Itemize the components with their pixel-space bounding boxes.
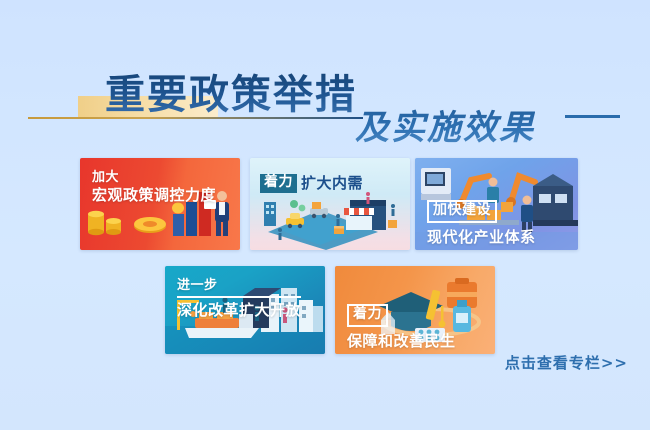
card-2-line2: 扩大内需: [301, 174, 363, 193]
card-3-line1-wrap: 加快建设: [427, 200, 536, 223]
card-4-line1: 进一步: [177, 278, 301, 294]
policy-card-industrial-system[interactable]: 加快建设 现代化产业体系: [415, 158, 578, 250]
banner-title-block: 重要政策举措 及实施效果: [0, 58, 650, 150]
card-2-line1: 着力: [260, 174, 297, 193]
card-5-line1: 着力: [347, 304, 388, 327]
card-1-line1: 加大: [92, 170, 216, 186]
policy-banner: 重要政策举措 及实施效果: [0, 0, 650, 430]
policy-card-macro-control[interactable]: 加大 宏观政策调控力度: [80, 158, 240, 250]
card-4-divider: [177, 296, 301, 298]
card-1-labels: 加大 宏观政策调控力度: [92, 170, 216, 205]
card-4-labels: 进一步 深化改革扩大开放: [177, 278, 301, 320]
card-5-labels: 着力 保障和改善民生: [347, 304, 456, 350]
card-3-line1: 加快建设: [427, 200, 497, 223]
policy-card-expand-demand[interactable]: 着力 扩大内需: [250, 158, 410, 250]
card-3-labels: 加快建设 现代化产业体系: [427, 200, 536, 246]
card-2-line-wrap: 着力 扩大内需: [260, 174, 363, 193]
card-1-line2: 宏观政策调控力度: [92, 186, 216, 205]
policy-card-reform-opening[interactable]: 进一步 深化改革扩大开放: [165, 266, 325, 354]
card-art-city-consumption: [250, 158, 410, 250]
policy-card-livelihood[interactable]: 着力 保障和改善民生: [335, 266, 495, 354]
card-5-line1-wrap: 着力: [347, 304, 456, 327]
view-column-link[interactable]: 点击查看专栏>>: [505, 352, 628, 373]
title-dash-right: [565, 115, 620, 118]
page-subtitle: 及实施效果: [355, 100, 535, 149]
card-5-line2: 保障和改善民生: [347, 332, 456, 351]
card-4-line2: 深化改革扩大开放: [177, 301, 301, 320]
page-title: 重要政策举措: [105, 62, 357, 120]
card-2-labels: 着力 扩大内需: [260, 174, 363, 193]
card-3-line2: 现代化产业体系: [427, 228, 536, 247]
